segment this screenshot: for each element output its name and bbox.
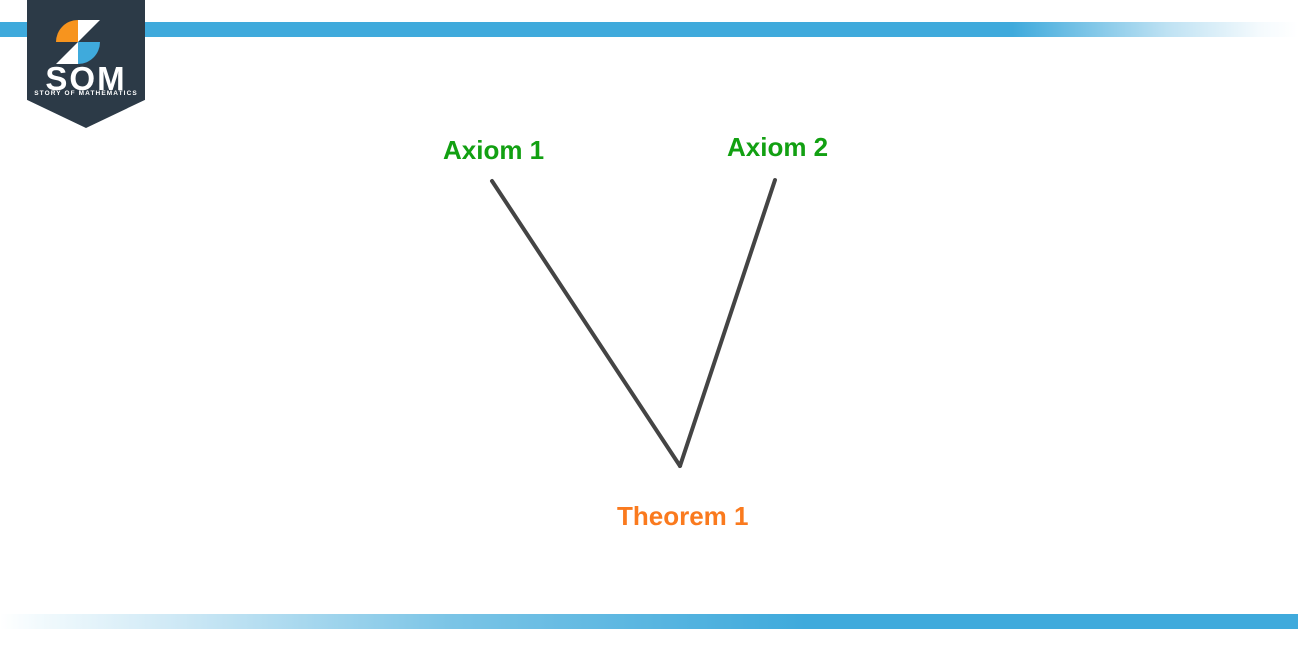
page-canvas: SOM STORY OF MATHEMATICS Axiom 1 Axiom 2… (0, 0, 1298, 649)
node-label-theorem1: Theorem 1 (617, 503, 749, 529)
axiom-theorem-diagram (0, 0, 1298, 649)
edge-axiom1-theorem1 (492, 181, 680, 466)
edge-axiom2-theorem1 (680, 180, 775, 466)
node-label-axiom1: Axiom 1 (443, 137, 544, 163)
node-label-axiom2: Axiom 2 (727, 134, 828, 160)
bottom-accent-bar (0, 614, 1298, 629)
